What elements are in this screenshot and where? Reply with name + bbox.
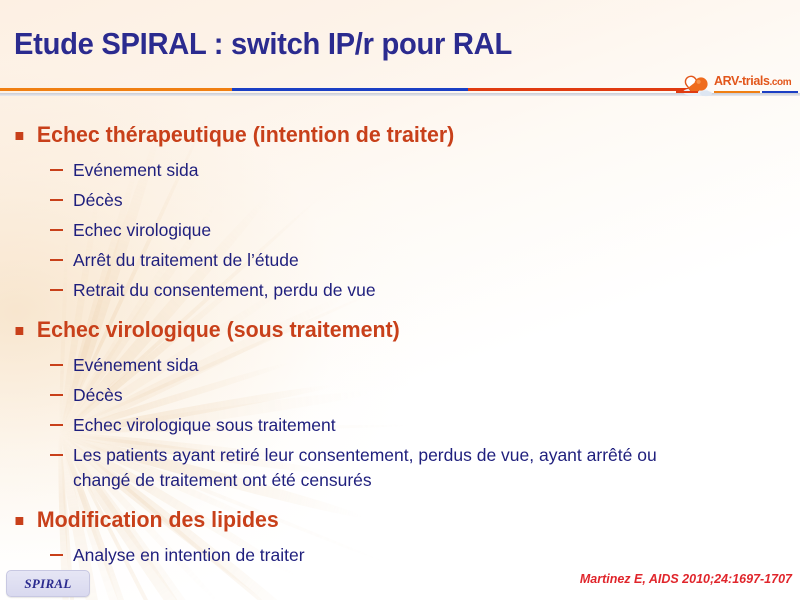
dash-bullet-icon (50, 229, 63, 231)
spiral-study-badge[interactable]: SPIRAL (6, 570, 90, 597)
dash-bullet-icon (50, 424, 63, 426)
logo-wordmark: ARV-trials.com (714, 74, 791, 88)
rule-segment-blue (232, 88, 468, 91)
content-group: Echec thérapeutique (intention de traite… (0, 120, 800, 305)
dash-bullet-icon (50, 554, 63, 556)
dash-bullet-icon (50, 394, 63, 396)
square-bullet-icon (16, 132, 24, 140)
content-group: Modification des lipidesAnalyse en inten… (0, 505, 800, 570)
rule-segment-red (468, 88, 696, 91)
bullet-item: Echec virologique sous traitement (0, 411, 713, 440)
logo-text-main: ARV-trials (714, 74, 770, 88)
section-heading: Echec thérapeutique (intention de traite… (0, 120, 776, 150)
dash-bullet-icon (50, 454, 63, 456)
bullet-item: Décès (0, 186, 713, 215)
dash-bullet-icon (50, 199, 63, 201)
content-group: Echec virologique (sous traitement)Evéne… (0, 315, 800, 495)
dash-bullet-icon (50, 289, 63, 291)
bullet-item: Evénement sida (0, 351, 713, 380)
square-bullet-icon (16, 517, 24, 525)
bullet-item: Retrait du consentement, perdu de vue (0, 276, 713, 305)
dash-bullet-icon (50, 259, 63, 261)
bullet-item: Analyse en intention de traiter (0, 541, 713, 570)
slide-content: Echec thérapeutique (intention de traite… (0, 120, 800, 571)
square-bullet-icon (16, 327, 24, 335)
bullet-item: Arrêt du traitement de l’étude (0, 246, 713, 275)
section-heading: Echec virologique (sous traitement) (0, 315, 776, 345)
rule-segment-orange (0, 88, 232, 91)
arv-trials-logo[interactable]: ARV-trials.com (676, 68, 798, 104)
bullet-item: Décès (0, 381, 713, 410)
dash-bullet-icon (50, 169, 63, 171)
dash-bullet-icon (50, 364, 63, 366)
bullet-item: Echec virologique (0, 216, 713, 245)
slide-canvas: Etude SPIRAL : switch IP/r pour RAL ARV-… (0, 0, 800, 600)
logo-text-suffix: .com (770, 77, 792, 88)
bullet-item: Evénement sida (0, 156, 713, 185)
citation-reference: Martinez E, AIDS 2010;24:1697-1707 (580, 572, 792, 586)
spiral-study-badge-label: SPIRAL (24, 576, 71, 592)
bullet-item: Les patients ayant retiré leur consentem… (0, 441, 713, 495)
section-heading: Modification des lipides (0, 505, 776, 535)
slide-title: Etude SPIRAL : switch IP/r pour RAL (14, 26, 512, 62)
